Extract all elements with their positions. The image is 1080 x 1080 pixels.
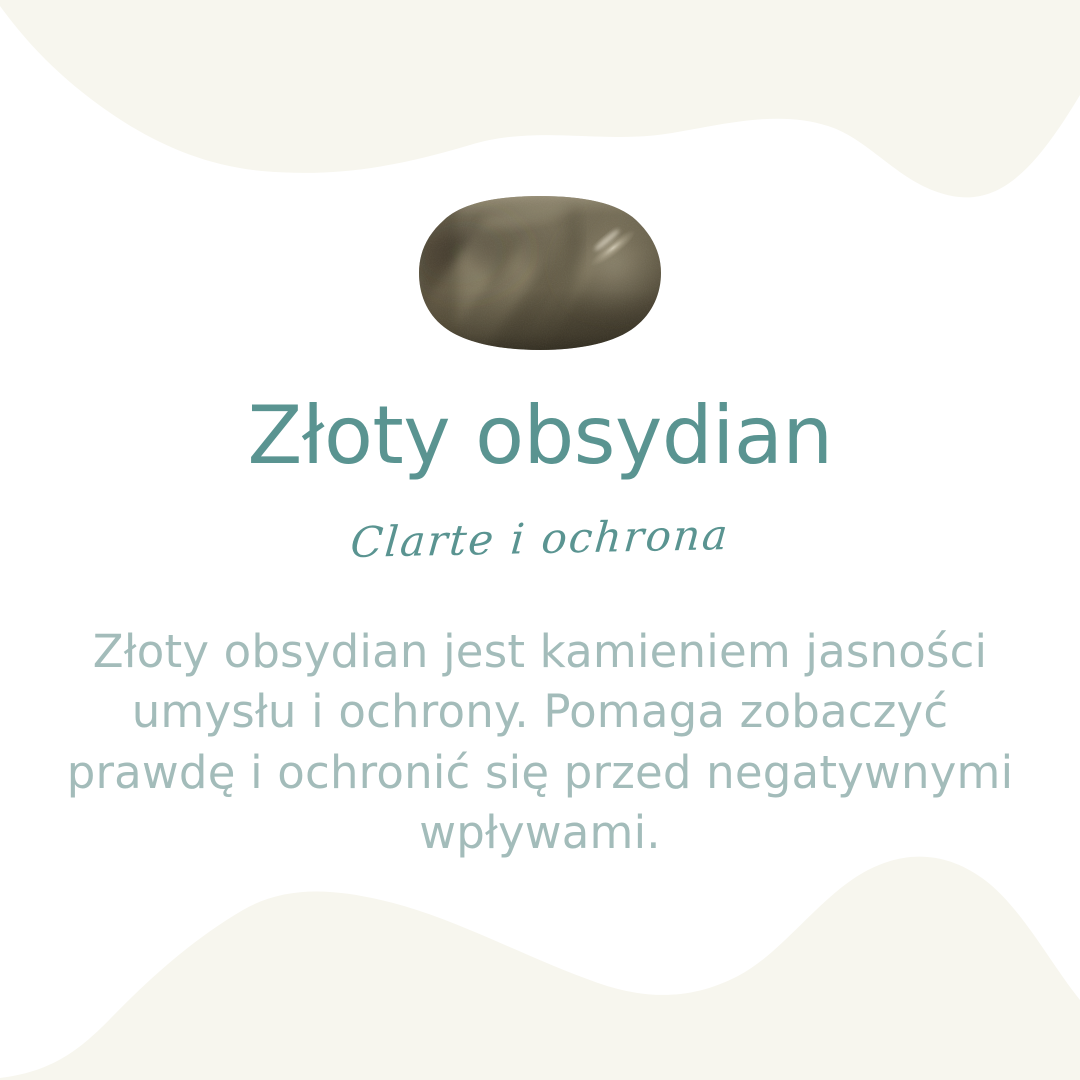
crystal-info-card: Złoty obsydian Clarte i ochrona Złoty ob… xyxy=(0,0,1080,1080)
subtitle-script: Clarte i ochrona xyxy=(0,507,1080,572)
stone-illustration xyxy=(417,194,663,352)
body-description: Złoty obsydian jest kamieniem jasności u… xyxy=(60,622,1020,863)
page-title: Złoty obsydian xyxy=(0,396,1080,476)
text-content: Złoty obsydian Clarte i ochrona Złoty ob… xyxy=(0,396,1080,863)
stone-image xyxy=(417,194,663,352)
